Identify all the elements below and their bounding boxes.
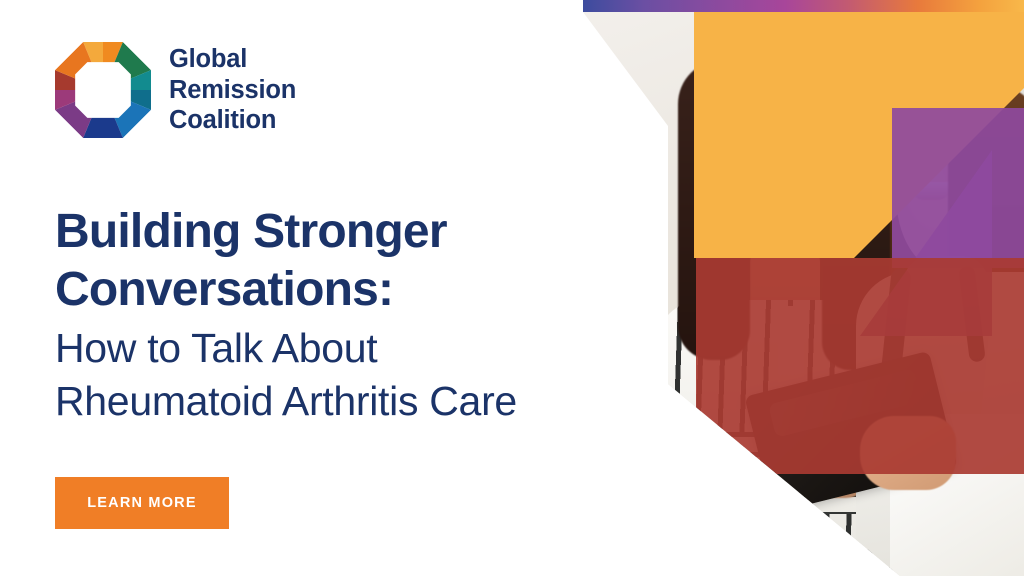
geo-shape-orange-triangle bbox=[560, 12, 582, 264]
top-gradient-bar bbox=[582, 0, 1024, 12]
learn-more-button[interactable]: LEARN MORE bbox=[55, 477, 229, 529]
octagon-ring-logo-icon bbox=[55, 42, 151, 138]
geo-shape-amber-block bbox=[694, 12, 854, 258]
hero-artwork bbox=[560, 0, 1024, 576]
promo-banner: Global Remission Coalition Building Stro… bbox=[0, 0, 1024, 576]
geo-shape-dark-red-block bbox=[696, 258, 1024, 474]
page-title: Building Stronger Conversations: bbox=[55, 203, 447, 318]
brand-name: Global Remission Coalition bbox=[169, 44, 296, 137]
artwork-clip-shape bbox=[560, 0, 1024, 576]
brand-logo[interactable]: Global Remission Coalition bbox=[55, 42, 296, 138]
page-subtitle: How to Talk About Rheumatoid Arthritis C… bbox=[55, 322, 517, 429]
